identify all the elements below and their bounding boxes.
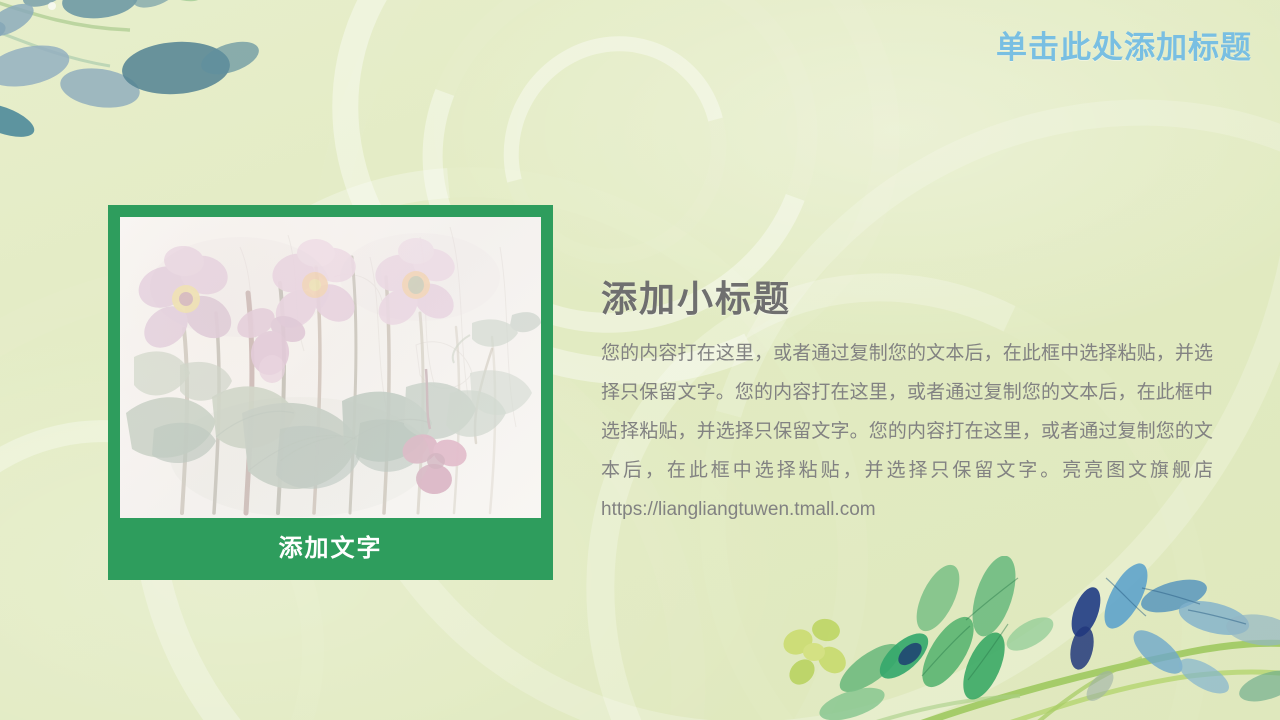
body-paragraph: 您的内容打在这里，或者通过复制您的文本后，在此框中选择粘贴，并选择只保留文字。您… [601,334,1213,529]
page-title: 单击此处添加标题 [996,22,1252,67]
picture-card[interactable]: 添加文字 [108,205,553,580]
section-heading: 添加小标题 [601,270,791,322]
picture-caption: 添加文字 [120,518,541,580]
watercolor-illustration [120,217,541,518]
picture-placeholder[interactable] [120,217,541,518]
slide-canvas: 单击此处添加标题 [0,0,1280,720]
